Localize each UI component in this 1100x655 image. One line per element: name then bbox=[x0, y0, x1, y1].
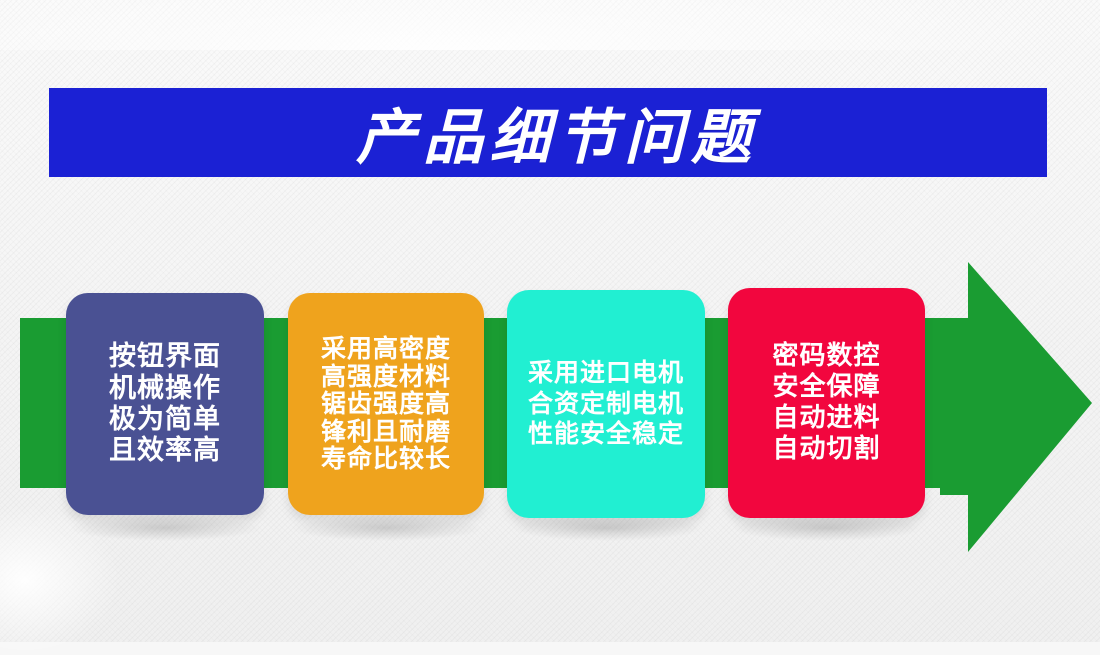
feature-card-2-line-5: 寿命比较长 bbox=[321, 445, 451, 473]
feature-card-2[interactable]: 采用高密度 高强度材料 锯齿强度高 锋利且耐磨 寿命比较长 bbox=[288, 293, 484, 515]
feature-card-3-line-1: 采用进口电机 bbox=[528, 358, 684, 389]
title-banner: 产品细节问题 bbox=[49, 88, 1047, 177]
feature-card-1-line-1: 按钮界面 bbox=[109, 341, 221, 372]
background-glow-top bbox=[0, 0, 1100, 50]
card-shadow bbox=[732, 515, 922, 541]
arrow-head-icon bbox=[940, 262, 1092, 552]
page-title: 产品细节问题 bbox=[49, 88, 1047, 177]
feature-card-4-line-2: 安全保障 bbox=[772, 372, 880, 403]
card-shadow bbox=[512, 515, 702, 541]
feature-card-3-line-3: 性能安全稳定 bbox=[528, 419, 684, 450]
feature-card-3-line-2: 合资定制电机 bbox=[528, 389, 684, 420]
feature-card-2-line-1: 采用高密度 bbox=[321, 335, 451, 363]
feature-card-2-line-4: 锋利且耐磨 bbox=[321, 418, 451, 446]
feature-card-4-line-1: 密码数控 bbox=[772, 341, 880, 372]
feature-card-2-line-3: 锯齿强度高 bbox=[321, 390, 451, 418]
feature-card-2-line-2: 高强度材料 bbox=[321, 363, 451, 391]
feature-card-1-line-3: 极为简单 bbox=[109, 404, 221, 435]
feature-card-1[interactable]: 按钮界面 机械操作 极为简单 且效率高 bbox=[66, 293, 264, 515]
feature-card-4-line-4: 自动切割 bbox=[772, 434, 880, 465]
feature-card-4[interactable]: 密码数控 安全保障 自动进料 自动切割 bbox=[728, 288, 925, 518]
feature-card-1-line-2: 机械操作 bbox=[109, 373, 221, 404]
feature-card-3[interactable]: 采用进口电机 合资定制电机 性能安全稳定 bbox=[507, 290, 705, 518]
card-shadow bbox=[70, 515, 260, 541]
card-shadow bbox=[292, 515, 482, 541]
feature-card-1-line-4: 且效率高 bbox=[109, 435, 221, 466]
feature-card-4-line-3: 自动进料 bbox=[772, 403, 880, 434]
